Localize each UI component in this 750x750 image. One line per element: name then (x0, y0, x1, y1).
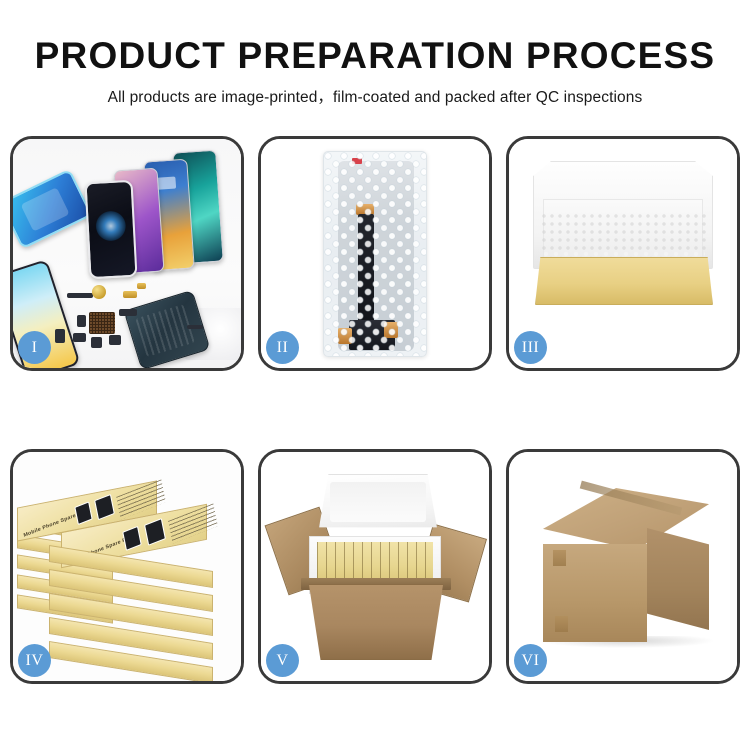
step-badge-6: VI (514, 644, 547, 677)
step-2-image (261, 139, 489, 368)
process-step-panel-6: VI (506, 449, 740, 684)
part-small-e-graphic (55, 329, 65, 343)
box-art-screen-a (74, 501, 92, 525)
foam-sheet-graphic (541, 213, 707, 253)
step-badge-2: II (266, 331, 299, 364)
flex-cable-graphic (119, 309, 137, 316)
carton-tape-mark-bottom (555, 616, 568, 632)
part-small-d-graphic (109, 335, 121, 345)
step-5-image (261, 452, 489, 681)
connector-grid-graphic (89, 312, 115, 334)
box-art-screen-c (122, 526, 142, 551)
step-badge-3: III (514, 331, 547, 364)
step-badge-4: IV (18, 644, 51, 677)
step-3-image (509, 139, 737, 368)
carton-body-graphic (303, 584, 449, 660)
carton-side-face-graphic (647, 528, 709, 630)
part-strip-graphic (67, 293, 93, 298)
step-badge-5: V (266, 644, 299, 677)
page-header: PRODUCT PREPARATION PROCESS All products… (0, 0, 750, 107)
part-small-a-graphic (77, 315, 86, 327)
box-art-screen-b (94, 494, 115, 520)
bubble-wrapped-screen-graphic (323, 151, 427, 357)
step-6-image (509, 452, 737, 681)
part-small-b-graphic (73, 333, 86, 342)
box-spec-lines-front (168, 503, 218, 543)
product-process-infographic: PRODUCT PREPARATION PROCESS All products… (0, 0, 750, 750)
bubble-wrap-texture (324, 152, 426, 356)
step-1-image (13, 139, 241, 368)
phone-black-glass-graphic (84, 180, 137, 279)
screwdriver-graphic (187, 325, 203, 329)
speaker-part-graphic (92, 285, 106, 299)
carton-tape-mark-top (553, 550, 566, 566)
box-art-screen-d (144, 518, 166, 546)
foam-lid-graphic (319, 474, 437, 536)
kraft-tray-graphic (535, 257, 713, 305)
process-step-panel-1: I (10, 136, 244, 371)
part-gold-b-graphic (137, 283, 146, 289)
page-title: PRODUCT PREPARATION PROCESS (0, 34, 750, 78)
page-subtitle: All products are image-printed，film-coat… (0, 85, 750, 107)
kraft-box-stack-graphic: Mobile Phone Spare Parts Mobile Phone Sp… (17, 480, 241, 670)
process-step-panel-4: Mobile Phone Spare Parts Mobile Phone Sp… (10, 449, 244, 684)
part-small-c-graphic (91, 337, 102, 348)
process-step-panel-2: II (258, 136, 492, 371)
step-4-image: Mobile Phone Spare Parts Mobile Phone Sp… (13, 452, 241, 681)
part-gold-a-graphic (123, 291, 137, 298)
process-step-panel-5: V (258, 449, 492, 684)
step-badge-1: I (18, 331, 51, 364)
process-step-grid: I II (10, 136, 740, 684)
process-step-panel-3: III (506, 136, 740, 371)
